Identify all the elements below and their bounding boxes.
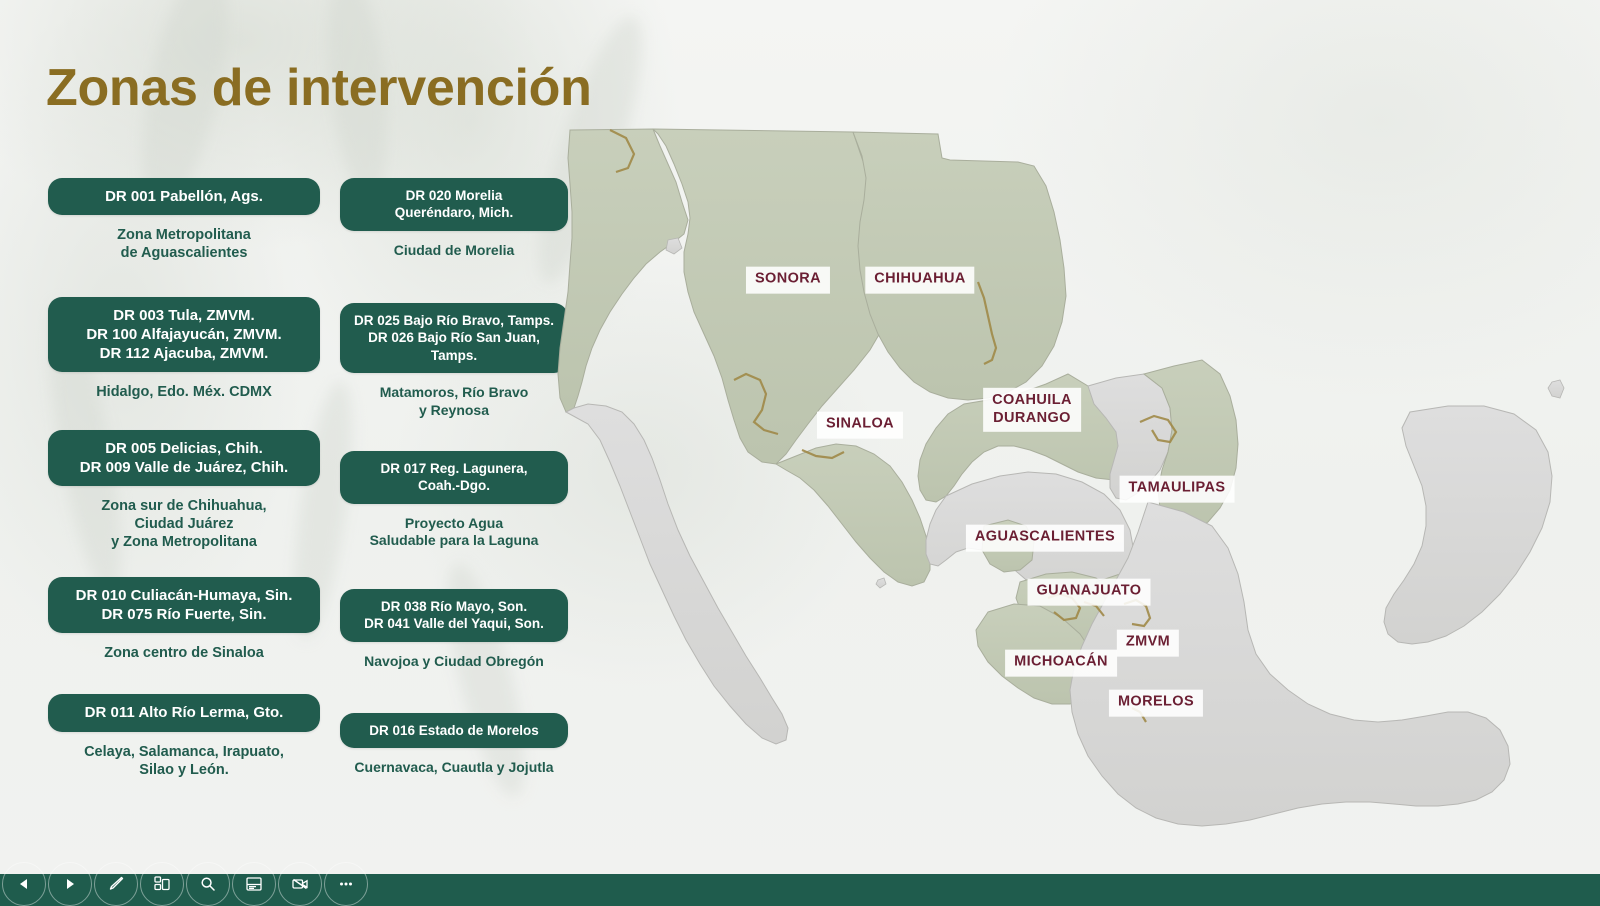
presentation-toolbar: [0, 874, 1600, 906]
zoom-button[interactable]: [186, 862, 230, 906]
zone-group: DR 005 Delicias, Chih. DR 009 Valle de J…: [48, 430, 320, 552]
next-slide-button[interactable]: [48, 862, 92, 906]
pen-tool-button[interactable]: [94, 862, 138, 906]
camera-off-button[interactable]: [278, 862, 322, 906]
map-label-coahuila-durango: COAHUILA DURANGO: [983, 388, 1081, 432]
mexico-map-svg: [548, 112, 1588, 842]
zone-pill[interactable]: DR 001 Pabellón, Ags.: [48, 178, 320, 215]
zone-group: DR 020 Morelia Queréndaro, Mich. Ciudad …: [340, 178, 568, 259]
previous-slide-button[interactable]: [2, 862, 46, 906]
zone-group: DR 016 Estado de Morelos Cuernavaca, Cua…: [340, 713, 568, 777]
triangle-left-icon: [16, 876, 32, 892]
zone-caption: Hidalgo, Edo. Méx. CDMX: [48, 383, 320, 401]
zone-group: DR 001 Pabellón, Ags. Zona Metropolitana…: [48, 178, 320, 263]
zones-column-right: DR 020 Morelia Queréndaro, Mich. Ciudad …: [340, 178, 568, 777]
zone-group: DR 011 Alto Río Lerma, Gto. Celaya, Sala…: [48, 694, 320, 779]
ellipsis-icon: [337, 875, 355, 893]
map-label-michoacan: MICHOACÁN: [1005, 650, 1117, 677]
island-isla-angel: [666, 238, 682, 254]
map-label-sonora: SONORA: [746, 267, 830, 294]
map-label-aguascalientes: AGUASCALIENTES: [966, 525, 1124, 552]
page-title: Zonas de intervención: [46, 58, 592, 118]
pen-icon: [107, 875, 125, 893]
zone-pill[interactable]: DR 010 Culiacán-Humaya, Sin. DR 075 Río …: [48, 577, 320, 633]
zones-column-left: DR 001 Pabellón, Ags. Zona Metropolitana…: [48, 178, 320, 779]
map-label-chihuahua: CHIHUAHUA: [865, 267, 974, 294]
map-label-morelos: MORELOS: [1109, 690, 1203, 717]
presentation-slide: Zonas de intervención DR 001 Pabellón, A…: [0, 0, 1600, 906]
zone-caption: Navojoa y Ciudad Obregón: [340, 653, 568, 671]
island-tres-marias: [876, 578, 886, 588]
state-sinaloa: [776, 444, 930, 586]
yucatan-peninsula: [1384, 406, 1552, 644]
mexico-map: SONORA CHIHUAHUA COAHUILA DURANGO SINALO…: [548, 112, 1588, 842]
zone-caption: Celaya, Salamanca, Irapuato, Silao y Leó…: [48, 743, 320, 780]
zone-caption: Matamoros, Río Bravo y Reynosa: [340, 384, 568, 419]
zone-caption: Ciudad de Morelia: [340, 242, 568, 260]
zone-pill[interactable]: DR 011 Alto Río Lerma, Gto.: [48, 694, 320, 731]
magnifier-icon: [199, 875, 217, 893]
zone-group: DR 010 Culiacán-Humaya, Sin. DR 075 Río …: [48, 577, 320, 663]
state-baja-california-norte: [558, 129, 688, 412]
zone-pill[interactable]: DR 017 Reg. Lagunera, Coah.-Dgo.: [340, 451, 568, 504]
zone-caption: Zona Metropolitana de Aguascalientes: [48, 226, 320, 263]
zone-pill[interactable]: DR 005 Delicias, Chih. DR 009 Valle de J…: [48, 430, 320, 486]
zone-pill[interactable]: DR 020 Morelia Queréndaro, Mich.: [340, 178, 568, 231]
more-options-button[interactable]: [324, 862, 368, 906]
triangle-right-icon: [62, 876, 78, 892]
zone-caption: Proyecto Agua Saludable para la Laguna: [340, 515, 568, 550]
slide-overview-button[interactable]: [140, 862, 184, 906]
zone-caption: Zona centro de Sinaloa: [48, 644, 320, 662]
grid-slides-icon: [153, 875, 171, 893]
notes-panel-icon: [245, 875, 263, 893]
zone-group: DR 038 Río Mayo, Son. DR 041 Valle del Y…: [340, 589, 568, 670]
camera-off-icon: [291, 875, 309, 893]
zone-caption: Zona sur de Chihuahua, Ciudad Juárez y Z…: [48, 497, 320, 552]
zone-pill[interactable]: DR 003 Tula, ZMVM. DR 100 Alfajayucán, Z…: [48, 297, 320, 373]
map-label-zmvm: ZMVM: [1117, 630, 1179, 657]
zone-pill[interactable]: DR 016 Estado de Morelos: [340, 713, 568, 748]
map-label-guanajuato: GUANAJUATO: [1028, 579, 1151, 606]
map-label-sinaloa: SINALOA: [817, 412, 903, 439]
presenter-view-button[interactable]: [232, 862, 276, 906]
zone-group: DR 017 Reg. Lagunera, Coah.-Dgo. Proyect…: [340, 451, 568, 550]
zone-pill[interactable]: DR 038 Río Mayo, Son. DR 041 Valle del Y…: [340, 589, 568, 642]
map-label-tamaulipas: TAMAULIPAS: [1120, 476, 1235, 503]
zone-pill[interactable]: DR 025 Bajo Río Bravo, Tamps. DR 026 Baj…: [340, 303, 568, 373]
zone-group: DR 025 Bajo Río Bravo, Tamps. DR 026 Baj…: [340, 303, 568, 419]
zone-group: DR 003 Tula, ZMVM. DR 100 Alfajayucán, Z…: [48, 297, 320, 402]
zone-caption: Cuernavaca, Cuautla y Jojutla: [340, 759, 568, 777]
island-cozumel: [1548, 380, 1564, 398]
